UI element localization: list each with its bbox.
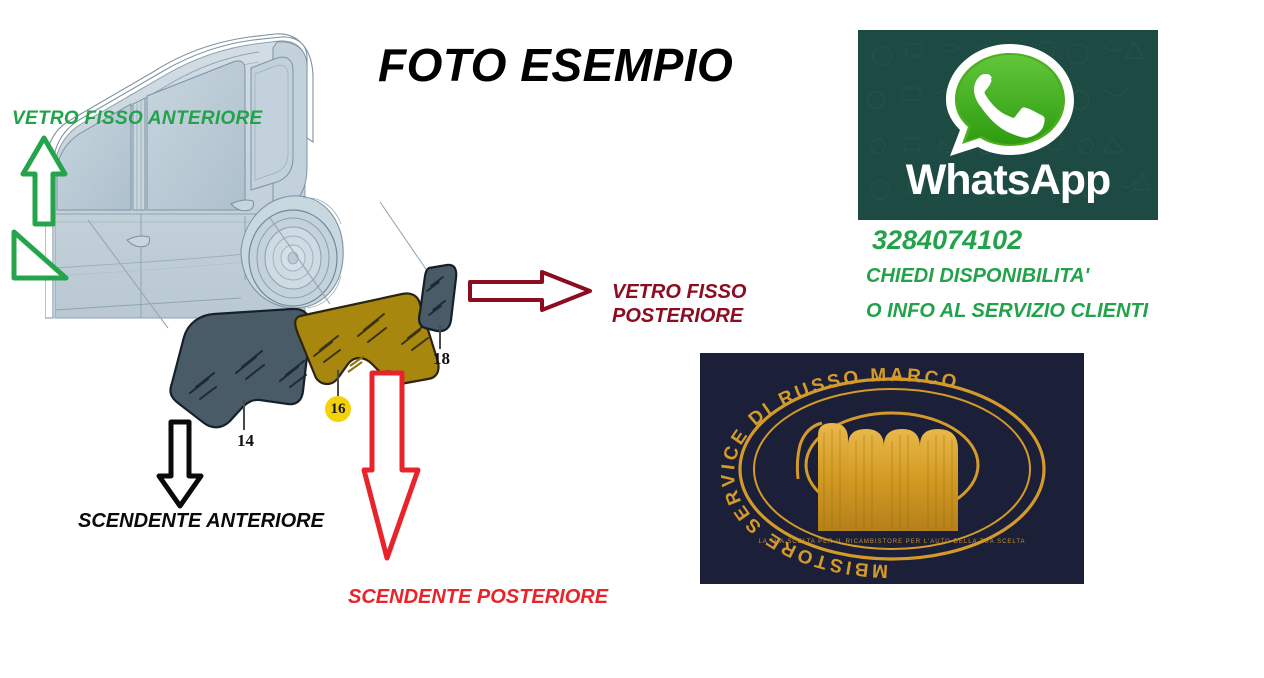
whatsapp-phone-number: 3284074102 bbox=[872, 225, 1022, 256]
label-rear-fixed-glass-line1: VETRO FISSO bbox=[612, 280, 746, 304]
part-number-14: 14 bbox=[237, 431, 254, 451]
label-rear-fixed-glass: VETRO FISSO POSTERIORE bbox=[612, 280, 746, 329]
shop-logo-fine-print: LA TUA SCELTA PER IL RICAMBISTORE PER L'… bbox=[758, 539, 1025, 545]
part-number-18: 18 bbox=[433, 349, 450, 369]
label-front-fixed-glass: VETRO FISSO ANTERIORE bbox=[12, 108, 263, 130]
up-arrow-icon-green bbox=[8, 132, 78, 282]
whatsapp-icon bbox=[936, 38, 1082, 162]
shop-logo: MRICAMBISTORE SERVICE DI RUSSO MARCO LA … bbox=[700, 353, 1084, 584]
shop-logo-graphic: MRICAMBISTORE SERVICE DI RUSSO MARCO LA … bbox=[700, 353, 1084, 584]
label-rear-fixed-glass-line2: POSTERIORE bbox=[612, 304, 746, 328]
whatsapp-wordmark: WhatsApp bbox=[858, 156, 1158, 205]
down-arrow-icon-black bbox=[155, 418, 215, 510]
whatsapp-banner: WhatsApp bbox=[858, 30, 1158, 220]
whatsapp-cta-line2: O INFO AL SERVIZIO CLIENTI bbox=[866, 300, 1148, 323]
screenshot-canvas: 14 16 17 18 VETRO FISSO ANTERIORE bbox=[0, 0, 1264, 678]
shop-logo-monogram bbox=[797, 423, 958, 531]
part-number-16-badge: 16 bbox=[325, 396, 351, 422]
right-arrow-icon-maroon bbox=[466, 268, 596, 314]
part-14-leader bbox=[236, 400, 252, 434]
down-arrow-icon-red bbox=[360, 370, 424, 580]
page-title: FOTO ESEMPIO bbox=[378, 38, 733, 92]
label-front-drop-glass: SCENDENTE ANTERIORE bbox=[78, 510, 324, 533]
label-rear-drop-glass: SCENDENTE POSTERIORE bbox=[348, 586, 608, 609]
whatsapp-cta-line1: CHIEDI DISPONIBILITA' bbox=[866, 265, 1089, 288]
